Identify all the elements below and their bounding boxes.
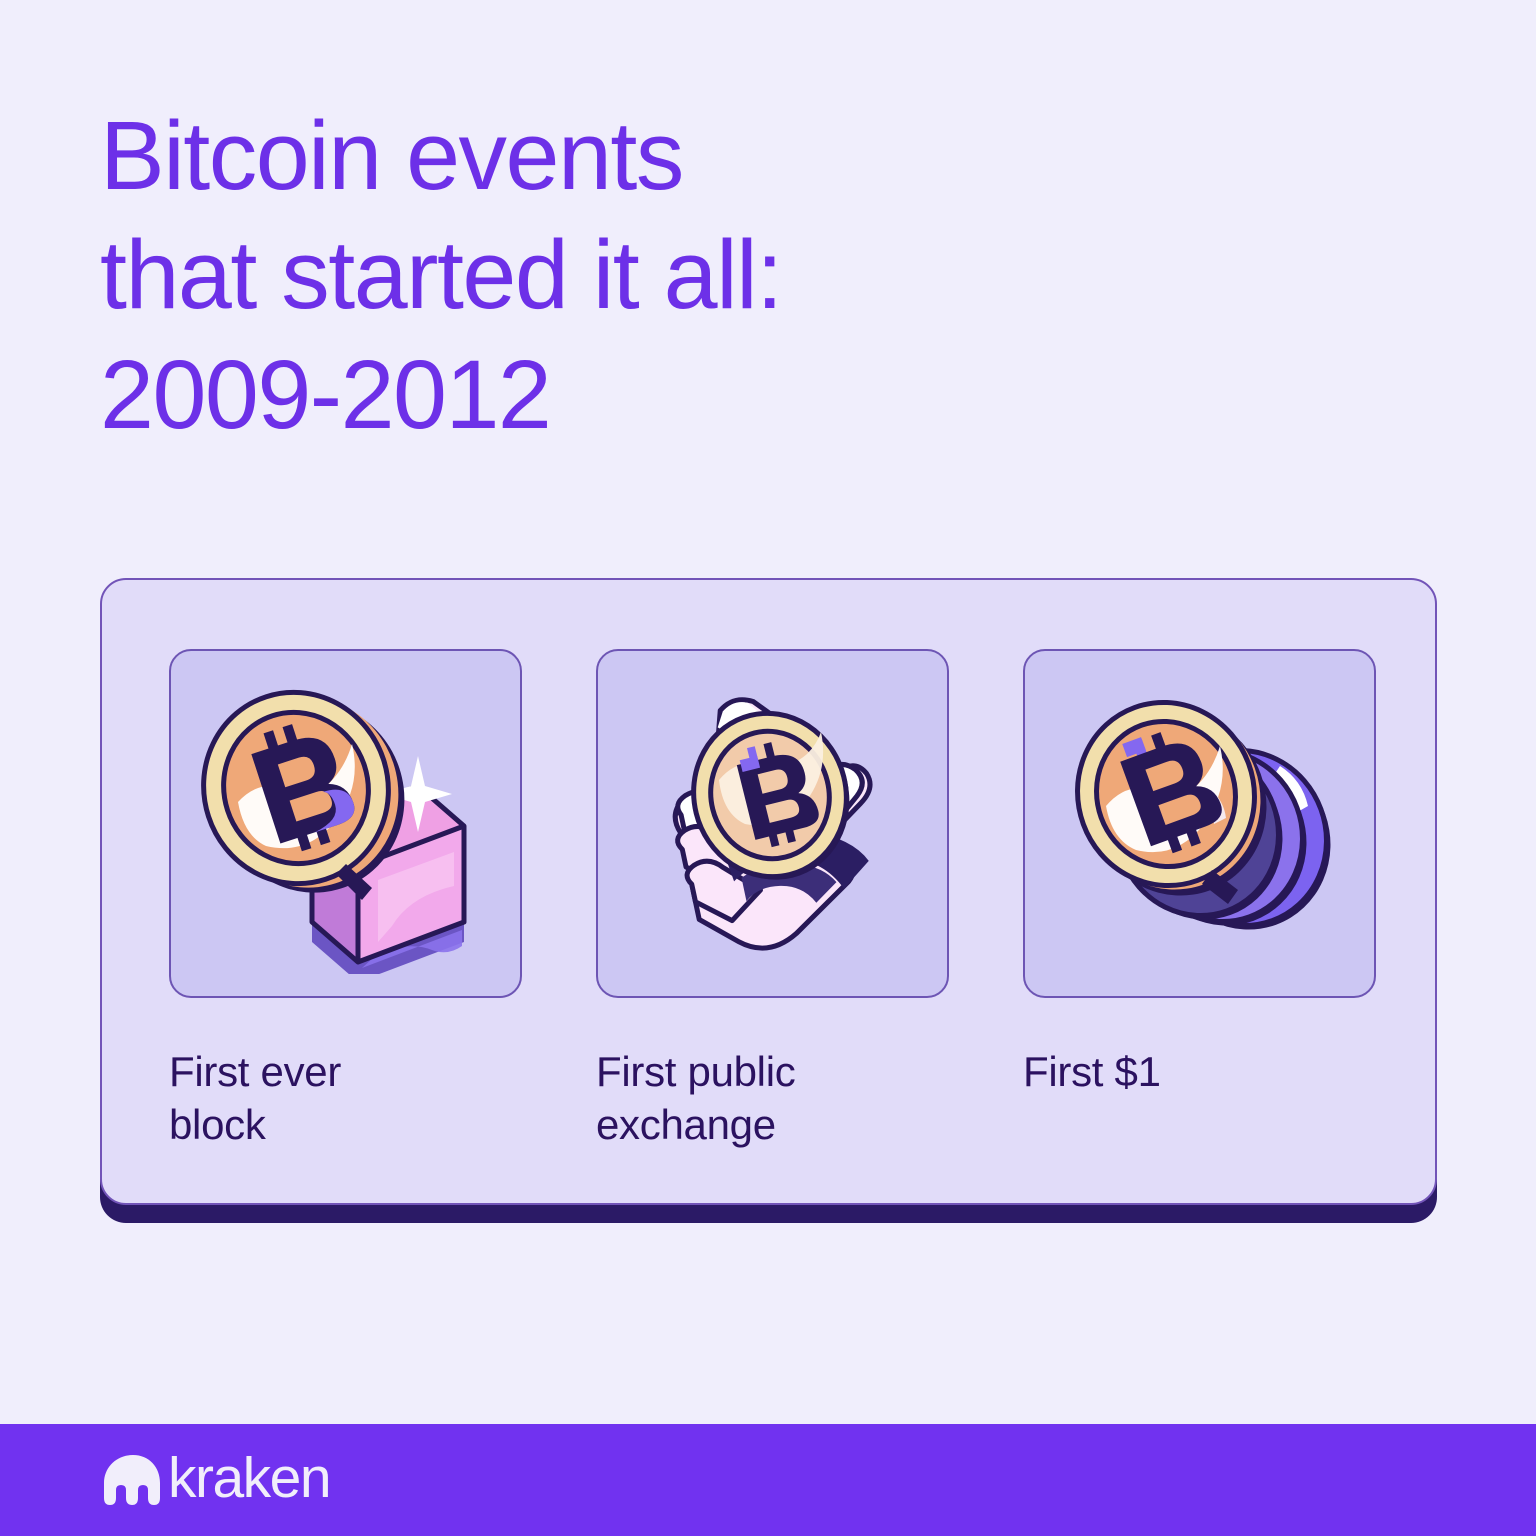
- kraken-logo-text: kraken: [168, 1450, 330, 1507]
- icon-tile-first-ever-block[interactable]: [169, 649, 522, 998]
- infographic-page: Bitcoin events that started it all: 2009…: [0, 0, 1536, 1536]
- stacked-bitcoin-coins-icon: [1050, 674, 1350, 974]
- event-label-first-public-exchange: First public exchange: [596, 1046, 949, 1151]
- kraken-logo[interactable]: kraken: [102, 1452, 330, 1509]
- icon-tile-first-public-exchange[interactable]: [596, 649, 949, 998]
- bitcoin-coin-and-block-icon: [196, 674, 496, 974]
- event-item-first-ever-block[interactable]: First ever block: [169, 649, 522, 1151]
- event-tiles-row: First ever block: [169, 649, 1376, 1151]
- event-item-first-dollar[interactable]: First $1: [1023, 649, 1376, 1151]
- icon-tile-first-dollar[interactable]: [1023, 649, 1376, 998]
- footer-bar: kraken: [0, 1424, 1536, 1536]
- hand-holding-bitcoin-coin-icon: [623, 674, 923, 974]
- event-item-first-public-exchange[interactable]: First public exchange: [596, 649, 949, 1151]
- page-title: Bitcoin events that started it all: 2009…: [100, 96, 1300, 454]
- event-label-first-dollar: First $1: [1023, 1046, 1376, 1099]
- kraken-squid-icon: [102, 1454, 164, 1506]
- event-label-first-ever-block: First ever block: [169, 1046, 522, 1151]
- events-card: First ever block: [100, 578, 1437, 1205]
